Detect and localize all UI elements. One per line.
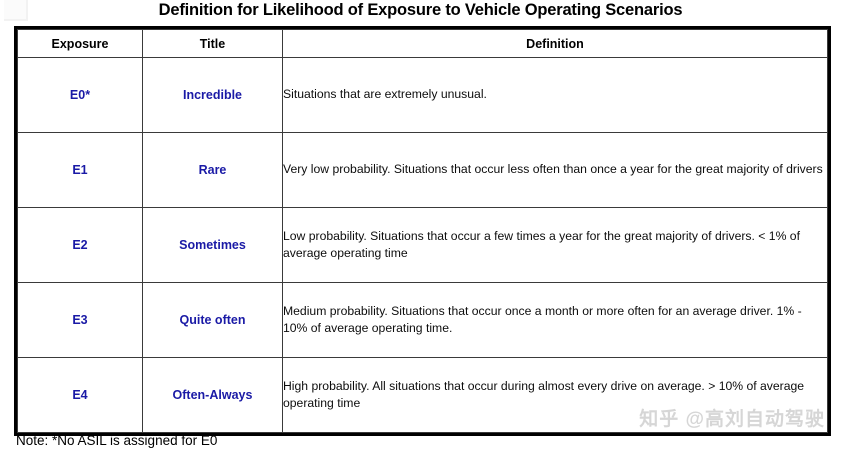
- cell-exposure: E3: [18, 283, 143, 358]
- cell-title: Rare: [143, 133, 283, 208]
- table-row: E3 Quite often Medium probability. Situa…: [18, 283, 828, 358]
- cell-definition: Medium probability. Situations that occu…: [283, 283, 828, 358]
- cell-exposure: E4: [18, 358, 143, 433]
- table-row: E2 Sometimes Low probability. Situations…: [18, 208, 828, 283]
- cell-definition: High probability. All situations that oc…: [283, 358, 828, 433]
- cell-title: Quite often: [143, 283, 283, 358]
- column-header-title: Title: [143, 30, 283, 58]
- cell-exposure: E2: [18, 208, 143, 283]
- cell-exposure: E1: [18, 133, 143, 208]
- footnote: Note: *No ASIL is assigned for E0: [16, 433, 217, 448]
- page-title: Definition for Likelihood of Exposure to…: [0, 1, 841, 20]
- table-row: E4 Often-Always High probability. All si…: [18, 358, 828, 433]
- column-header-exposure: Exposure: [18, 30, 143, 58]
- table-header: Exposure Title Definition: [18, 30, 828, 58]
- cell-title: Sometimes: [143, 208, 283, 283]
- table-row: E0* Incredible Situations that are extre…: [18, 58, 828, 133]
- cell-definition: Low probability. Situations that occur a…: [283, 208, 828, 283]
- column-header-definition: Definition: [283, 30, 828, 58]
- table-body: E0* Incredible Situations that are extre…: [18, 58, 828, 433]
- table-header-row: Exposure Title Definition: [18, 30, 828, 58]
- cell-definition: Situations that are extremely unusual.: [283, 58, 828, 133]
- page-root: Definition for Likelihood of Exposure to…: [0, 0, 841, 458]
- cell-exposure: E0*: [18, 58, 143, 133]
- cell-title: Incredible: [143, 58, 283, 133]
- cell-title: Often-Always: [143, 358, 283, 433]
- cell-definition: Very low probability. Situations that oc…: [283, 133, 828, 208]
- exposure-definition-table: Exposure Title Definition E0* Incredible…: [17, 29, 828, 433]
- exposure-table-container: Exposure Title Definition E0* Incredible…: [14, 26, 831, 436]
- table-row: E1 Rare Very low probability. Situations…: [18, 133, 828, 208]
